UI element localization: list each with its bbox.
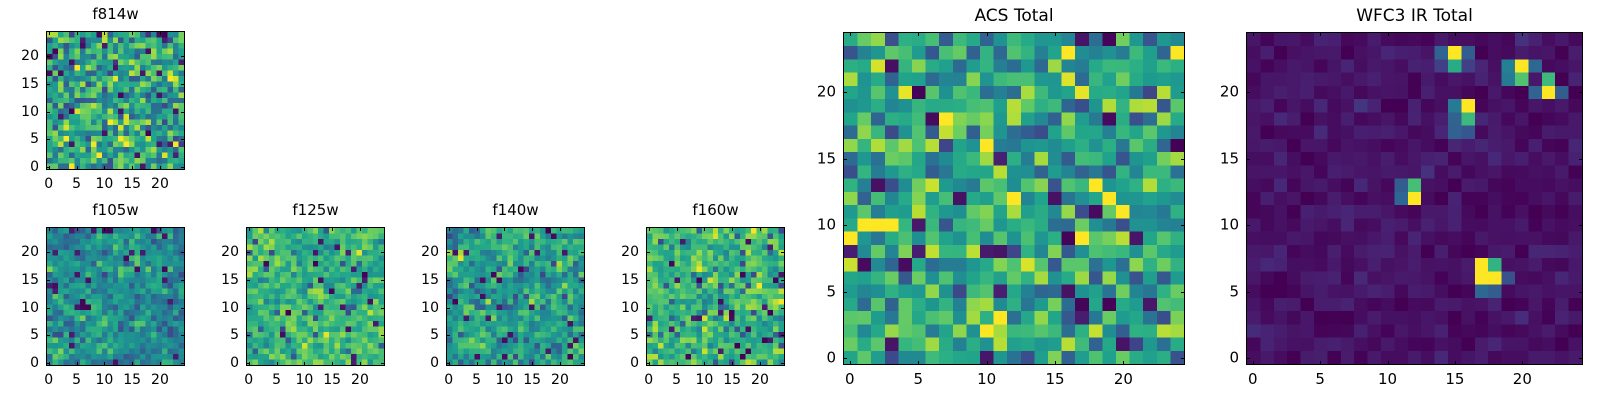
y-tick-right-acs_total-4 — [1181, 92, 1185, 93]
panel-f105w: f105w0510152005101520 — [0, 201, 205, 396]
x-ticklabel-acs_total-1: 5 — [913, 372, 923, 387]
y-ticklabel-f140w-1: 5 — [386, 328, 439, 342]
x-tick-f160w-3 — [732, 362, 733, 366]
y-tick-right-f105w-1 — [181, 335, 185, 336]
x-tick-top-f814w-0 — [49, 31, 50, 35]
x-ticklabel-wfc3_ir_total-1: 5 — [1315, 372, 1325, 387]
y-tick-right-f125w-1 — [381, 335, 385, 336]
y-tick-right-f814w-0 — [181, 167, 185, 168]
x-ticklabel-f814w-2: 10 — [95, 177, 113, 191]
y-tick-right-f140w-4 — [581, 252, 585, 253]
x-ticklabel-f814w-0: 0 — [44, 177, 53, 191]
x-ticklabel-f160w-0: 0 — [644, 373, 653, 387]
x-ticklabel-f814w-1: 5 — [72, 177, 81, 191]
y-tick-right-f105w-3 — [181, 280, 185, 281]
heatmap-image-wfc3_ir_total — [1247, 33, 1582, 364]
y-tick-wfc3_ir_total-1 — [1246, 292, 1250, 293]
x-ticklabel-acs_total-4: 20 — [1114, 372, 1133, 387]
x-tick-top-f140w-1 — [477, 227, 478, 231]
x-tick-top-f125w-3 — [332, 227, 333, 231]
x-tick-f160w-2 — [704, 362, 705, 366]
x-tick-top-wfc3_ir_total-0 — [1253, 32, 1254, 36]
x-tick-f814w-3 — [132, 166, 133, 170]
y-tick-acs_total-1 — [843, 292, 847, 293]
y-ticklabel-acs_total-2: 10 — [783, 218, 836, 233]
y-tick-f125w-1 — [246, 335, 250, 336]
y-tick-right-wfc3_ir_total-4 — [1579, 92, 1583, 93]
x-tick-f160w-4 — [760, 362, 761, 366]
panel-title-f140w: f140w — [446, 203, 585, 218]
y-ticklabel-f140w-0: 0 — [386, 356, 439, 370]
x-tick-top-f125w-2 — [304, 227, 305, 231]
x-tick-top-f125w-4 — [360, 227, 361, 231]
y-tick-f814w-2 — [46, 112, 50, 113]
x-ticklabel-acs_total-0: 0 — [845, 372, 855, 387]
y-ticklabel-f160w-3: 15 — [586, 273, 639, 287]
x-tick-wfc3_ir_total-0 — [1253, 361, 1254, 365]
panel-f140w: f140w0510152005101520 — [386, 201, 605, 396]
x-ticklabel-f140w-4: 20 — [551, 373, 569, 387]
x-ticklabel-acs_total-3: 15 — [1045, 372, 1064, 387]
panel-title-f125w: f125w — [246, 203, 385, 218]
x-tick-acs_total-3 — [1055, 361, 1056, 365]
x-ticklabel-f125w-4: 20 — [351, 373, 369, 387]
heatmap-axes-f140w[interactable] — [446, 227, 585, 366]
y-tick-f140w-2 — [446, 308, 450, 309]
x-tick-top-f160w-3 — [732, 227, 733, 231]
x-tick-f814w-2 — [104, 166, 105, 170]
y-tick-f125w-2 — [246, 308, 250, 309]
heatmap-image-f814w — [47, 32, 184, 169]
y-tick-right-f140w-2 — [581, 308, 585, 309]
x-tick-top-f160w-1 — [677, 227, 678, 231]
y-ticklabel-f140w-4: 20 — [386, 245, 439, 259]
y-tick-right-f814w-1 — [181, 139, 185, 140]
y-tick-right-f140w-3 — [581, 280, 585, 281]
x-ticklabel-f125w-2: 10 — [295, 373, 313, 387]
y-tick-wfc3_ir_total-0 — [1246, 358, 1250, 359]
x-ticklabel-f160w-4: 20 — [751, 373, 769, 387]
y-tick-f160w-3 — [646, 280, 650, 281]
x-ticklabel-f105w-2: 10 — [95, 373, 113, 387]
panel-title-f160w: f160w — [646, 203, 785, 218]
y-tick-f105w-1 — [46, 335, 50, 336]
x-tick-top-f125w-0 — [249, 227, 250, 231]
y-tick-wfc3_ir_total-3 — [1246, 159, 1250, 160]
y-ticklabel-f105w-1: 5 — [0, 328, 39, 342]
y-tick-acs_total-3 — [843, 159, 847, 160]
y-ticklabel-f814w-3: 15 — [0, 77, 39, 91]
y-ticklabel-f160w-2: 10 — [586, 301, 639, 315]
x-tick-f105w-1 — [77, 362, 78, 366]
panel-f814w: f814w0510152005101520 — [0, 5, 205, 200]
x-ticklabel-f140w-1: 5 — [472, 373, 481, 387]
x-tick-f125w-1 — [277, 362, 278, 366]
x-tick-top-acs_total-3 — [1055, 32, 1056, 36]
x-ticklabel-f814w-3: 15 — [123, 177, 141, 191]
y-tick-f814w-4 — [46, 56, 50, 57]
y-tick-right-f140w-0 — [581, 363, 585, 364]
heatmap-axes-f814w[interactable] — [46, 31, 185, 170]
x-tick-f814w-4 — [160, 166, 161, 170]
x-tick-top-acs_total-4 — [1123, 32, 1124, 36]
y-tick-right-f814w-4 — [181, 56, 185, 57]
y-tick-right-acs_total-3 — [1181, 159, 1185, 160]
x-tick-top-f140w-0 — [449, 227, 450, 231]
x-tick-top-acs_total-0 — [850, 32, 851, 36]
x-tick-f125w-3 — [332, 362, 333, 366]
x-tick-top-wfc3_ir_total-3 — [1455, 32, 1456, 36]
x-ticklabel-f160w-3: 15 — [723, 373, 741, 387]
x-tick-top-acs_total-2 — [987, 32, 988, 36]
y-tick-f140w-1 — [446, 335, 450, 336]
panel-title-f105w: f105w — [46, 203, 185, 218]
x-tick-top-f140w-2 — [504, 227, 505, 231]
x-tick-f140w-1 — [477, 362, 478, 366]
y-ticklabel-acs_total-0: 0 — [783, 351, 836, 366]
y-tick-f140w-0 — [446, 363, 450, 364]
x-tick-f105w-2 — [104, 362, 105, 366]
x-tick-top-f814w-2 — [104, 31, 105, 35]
x-ticklabel-wfc3_ir_total-2: 10 — [1378, 372, 1397, 387]
y-tick-f105w-2 — [46, 308, 50, 309]
heatmap-image-f140w — [447, 228, 584, 365]
x-ticklabel-f160w-2: 10 — [695, 373, 713, 387]
panel-title-acs_total: ACS Total — [843, 8, 1185, 25]
x-tick-wfc3_ir_total-4 — [1522, 361, 1523, 365]
x-tick-f105w-3 — [132, 362, 133, 366]
y-tick-acs_total-4 — [843, 92, 847, 93]
x-tick-top-f814w-4 — [160, 31, 161, 35]
x-tick-top-f140w-3 — [532, 227, 533, 231]
x-tick-f814w-1 — [77, 166, 78, 170]
y-ticklabel-f125w-1: 5 — [186, 328, 239, 342]
x-tick-top-wfc3_ir_total-2 — [1388, 32, 1389, 36]
y-ticklabel-f160w-1: 5 — [586, 328, 639, 342]
y-ticklabel-acs_total-3: 15 — [783, 151, 836, 166]
y-tick-right-wfc3_ir_total-0 — [1579, 358, 1583, 359]
panel-title-f814w: f814w — [46, 7, 185, 22]
x-tick-top-f814w-3 — [132, 31, 133, 35]
x-tick-acs_total-1 — [918, 361, 919, 365]
y-tick-right-f814w-2 — [181, 112, 185, 113]
x-ticklabel-acs_total-2: 10 — [977, 372, 996, 387]
heatmap-image-acs_total — [844, 33, 1184, 364]
y-tick-right-f105w-4 — [181, 252, 185, 253]
y-tick-right-f814w-3 — [181, 84, 185, 85]
x-ticklabel-f105w-3: 15 — [123, 373, 141, 387]
y-tick-f160w-4 — [646, 252, 650, 253]
x-tick-f140w-3 — [532, 362, 533, 366]
x-tick-top-f140w-4 — [560, 227, 561, 231]
x-ticklabel-f125w-1: 5 — [272, 373, 281, 387]
x-tick-f160w-1 — [677, 362, 678, 366]
y-ticklabel-f125w-4: 20 — [186, 245, 239, 259]
x-ticklabel-f105w-0: 0 — [44, 373, 53, 387]
x-ticklabel-f105w-4: 20 — [151, 373, 169, 387]
x-tick-top-f105w-4 — [160, 227, 161, 231]
x-tick-wfc3_ir_total-3 — [1455, 361, 1456, 365]
y-ticklabel-f125w-2: 10 — [186, 301, 239, 315]
x-tick-top-f160w-2 — [704, 227, 705, 231]
y-tick-right-f125w-4 — [381, 252, 385, 253]
y-ticklabel-f105w-0: 0 — [0, 356, 39, 370]
heatmap-image-f105w — [47, 228, 184, 365]
panel-acs_total: ACS Total0510152005101520 — [783, 6, 1205, 395]
y-tick-f105w-4 — [46, 252, 50, 253]
y-ticklabel-f160w-0: 0 — [586, 356, 639, 370]
x-ticklabel-f140w-0: 0 — [444, 373, 453, 387]
x-tick-f125w-4 — [360, 362, 361, 366]
y-ticklabel-f140w-3: 15 — [386, 273, 439, 287]
x-tick-f140w-2 — [504, 362, 505, 366]
y-ticklabel-wfc3_ir_total-4: 20 — [1186, 84, 1239, 99]
x-tick-top-f105w-1 — [77, 227, 78, 231]
y-ticklabel-acs_total-4: 20 — [783, 84, 836, 99]
y-tick-f814w-3 — [46, 84, 50, 85]
x-tick-top-wfc3_ir_total-4 — [1522, 32, 1523, 36]
heatmap-axes-f125w[interactable] — [246, 227, 385, 366]
x-tick-wfc3_ir_total-2 — [1388, 361, 1389, 365]
y-tick-right-wfc3_ir_total-2 — [1579, 225, 1583, 226]
y-tick-f125w-0 — [246, 363, 250, 364]
y-ticklabel-wfc3_ir_total-2: 10 — [1186, 218, 1239, 233]
heatmap-axes-acs_total[interactable] — [843, 32, 1185, 365]
y-ticklabel-f125w-0: 0 — [186, 356, 239, 370]
x-tick-acs_total-2 — [987, 361, 988, 365]
y-tick-wfc3_ir_total-2 — [1246, 225, 1250, 226]
y-tick-f814w-0 — [46, 167, 50, 168]
x-tick-acs_total-0 — [850, 361, 851, 365]
x-tick-top-wfc3_ir_total-1 — [1320, 32, 1321, 36]
x-tick-top-f125w-1 — [277, 227, 278, 231]
heatmap-image-f160w — [647, 228, 784, 365]
y-ticklabel-f814w-4: 20 — [0, 49, 39, 63]
y-ticklabel-f814w-0: 0 — [0, 160, 39, 174]
y-tick-f160w-2 — [646, 308, 650, 309]
y-tick-right-f125w-0 — [381, 363, 385, 364]
panel-f125w: f125w0510152005101520 — [186, 201, 405, 396]
y-ticklabel-f140w-2: 10 — [386, 301, 439, 315]
x-ticklabel-wfc3_ir_total-0: 0 — [1248, 372, 1258, 387]
y-tick-f105w-3 — [46, 280, 50, 281]
x-tick-top-acs_total-1 — [918, 32, 919, 36]
x-tick-acs_total-4 — [1123, 361, 1124, 365]
x-ticklabel-wfc3_ir_total-3: 15 — [1445, 372, 1464, 387]
y-tick-wfc3_ir_total-4 — [1246, 92, 1250, 93]
y-tick-f160w-1 — [646, 335, 650, 336]
x-tick-wfc3_ir_total-1 — [1320, 361, 1321, 365]
y-tick-right-acs_total-2 — [1181, 225, 1185, 226]
y-ticklabel-acs_total-1: 5 — [783, 284, 836, 299]
x-ticklabel-wfc3_ir_total-4: 20 — [1513, 372, 1532, 387]
y-ticklabel-f814w-1: 5 — [0, 132, 39, 146]
x-tick-top-f105w-2 — [104, 227, 105, 231]
x-tick-f140w-4 — [560, 362, 561, 366]
y-tick-right-wfc3_ir_total-1 — [1579, 292, 1583, 293]
y-ticklabel-wfc3_ir_total-1: 5 — [1186, 284, 1239, 299]
y-tick-f125w-4 — [246, 252, 250, 253]
y-tick-right-f140w-1 — [581, 335, 585, 336]
y-tick-right-f105w-2 — [181, 308, 185, 309]
y-tick-acs_total-2 — [843, 225, 847, 226]
panel-f160w: f160w0510152005101520 — [586, 201, 805, 396]
y-tick-right-wfc3_ir_total-3 — [1579, 159, 1583, 160]
x-ticklabel-f160w-1: 5 — [672, 373, 681, 387]
x-tick-top-f160w-0 — [649, 227, 650, 231]
y-tick-right-f105w-0 — [181, 363, 185, 364]
x-tick-top-f105w-0 — [49, 227, 50, 231]
x-tick-top-f814w-1 — [77, 31, 78, 35]
y-tick-f814w-1 — [46, 139, 50, 140]
x-tick-f105w-4 — [160, 362, 161, 366]
y-tick-right-acs_total-1 — [1181, 292, 1185, 293]
heatmap-axes-wfc3_ir_total[interactable] — [1246, 32, 1583, 365]
panel-title-wfc3_ir_total: WFC3 IR Total — [1246, 8, 1583, 25]
y-tick-right-acs_total-0 — [1181, 358, 1185, 359]
y-ticklabel-f160w-4: 20 — [586, 245, 639, 259]
panel-wfc3_ir_total: WFC3 IR Total0510152005101520 — [1186, 6, 1600, 395]
x-ticklabel-f125w-0: 0 — [244, 373, 253, 387]
x-ticklabel-f140w-3: 15 — [523, 373, 541, 387]
x-ticklabel-f814w-4: 20 — [151, 177, 169, 191]
heatmap-axes-f105w[interactable] — [46, 227, 185, 366]
y-tick-right-f125w-2 — [381, 308, 385, 309]
y-ticklabel-f105w-4: 20 — [0, 245, 39, 259]
y-tick-f160w-0 — [646, 363, 650, 364]
y-tick-f105w-0 — [46, 363, 50, 364]
x-tick-top-f160w-4 — [760, 227, 761, 231]
heatmap-axes-f160w[interactable] — [646, 227, 785, 366]
y-ticklabel-f125w-3: 15 — [186, 273, 239, 287]
x-tick-f125w-2 — [304, 362, 305, 366]
heatmap-image-f125w — [247, 228, 384, 365]
x-ticklabel-f140w-2: 10 — [495, 373, 513, 387]
y-tick-f140w-4 — [446, 252, 450, 253]
y-ticklabel-f105w-2: 10 — [0, 301, 39, 315]
y-ticklabel-f814w-2: 10 — [0, 105, 39, 119]
y-tick-f140w-3 — [446, 280, 450, 281]
x-ticklabel-f125w-3: 15 — [323, 373, 341, 387]
y-tick-right-f125w-3 — [381, 280, 385, 281]
y-tick-f125w-3 — [246, 280, 250, 281]
y-ticklabel-wfc3_ir_total-3: 15 — [1186, 151, 1239, 166]
y-ticklabel-wfc3_ir_total-0: 0 — [1186, 351, 1239, 366]
y-ticklabel-f105w-3: 15 — [0, 273, 39, 287]
x-ticklabel-f105w-1: 5 — [72, 373, 81, 387]
x-tick-top-f105w-3 — [132, 227, 133, 231]
y-tick-acs_total-0 — [843, 358, 847, 359]
